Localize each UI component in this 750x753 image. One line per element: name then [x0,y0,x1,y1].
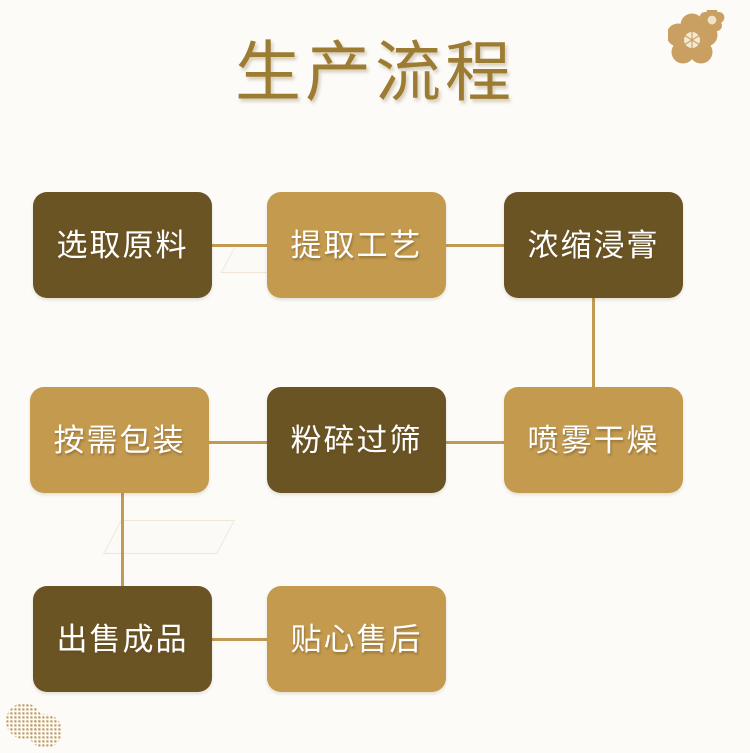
flow-node-label: 出售成品 [57,624,189,655]
connector-n5-n6 [207,441,269,444]
flow-node-label: 喷雾干燥 [528,425,660,456]
dotted-circles-icon [2,700,72,750]
flow-node-sell-product[interactable]: 出售成品 [33,586,212,692]
flow-node-after-sales[interactable]: 贴心售后 [267,586,446,692]
slide-canvas: 生产流程 [0,0,750,753]
flow-node-select-material[interactable]: 选取原料 [33,192,212,298]
flow-node-packaging[interactable]: 按需包装 [30,387,209,493]
flow-node-label: 贴心售后 [291,624,423,655]
flow-node-spray-drying[interactable]: 喷雾干燥 [504,387,683,493]
flow-node-label: 粉碎过筛 [291,425,423,456]
flow-node-label: 提取工艺 [291,230,423,261]
connector-n2-n3 [444,244,506,247]
connector-n4-n5 [444,441,506,444]
connector-n1-n2 [210,244,269,247]
flow-node-label: 按需包装 [54,425,186,456]
flow-node-crush-sieve[interactable]: 粉碎过筛 [267,387,446,493]
connector-n7-n8 [210,638,269,641]
connector-n6-n7 [121,491,124,588]
flow-node-concentrated-extract[interactable]: 浓缩浸膏 [504,192,683,298]
connector-n3-n4 [592,296,595,389]
flow-node-label: 浓缩浸膏 [528,230,660,261]
flow-node-label: 选取原料 [57,230,189,261]
page-title: 生产流程 [0,36,750,112]
flow-node-extraction-process[interactable]: 提取工艺 [267,192,446,298]
